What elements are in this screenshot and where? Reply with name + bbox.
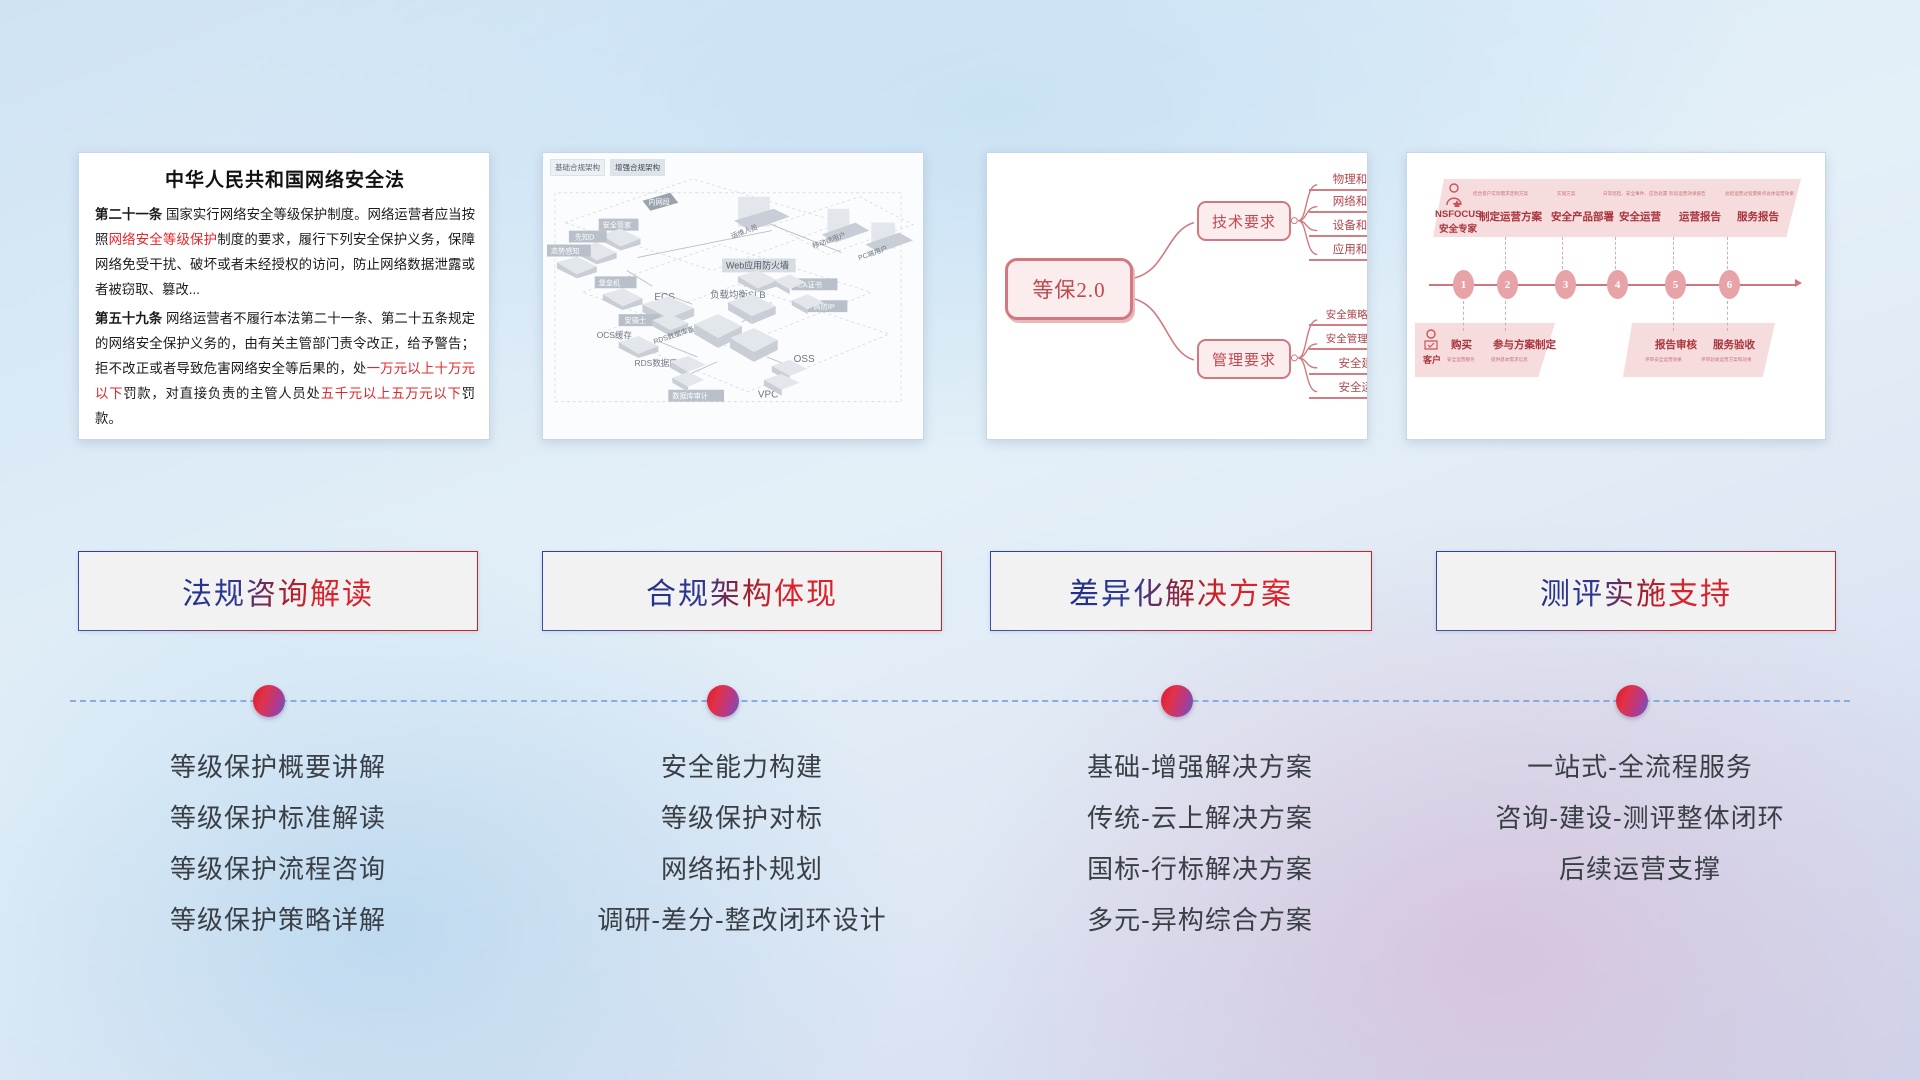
law-title: 中华人民共和国网络安全法 (95, 165, 475, 192)
bottom-step-1-main: 购买 (1451, 337, 1472, 352)
law-document: 中华人民共和国网络安全法 第二十一条 国家实行网络安全等级保护制度。网络运营者应… (79, 153, 489, 439)
article-59-text-mid: 罚款，对直接负责的主管人员处 (123, 386, 320, 401)
feature-item: 国标-行标解决方案 (1000, 844, 1400, 895)
step-4-sub: 日常巡检、安全事件、应急处置 (1603, 191, 1667, 197)
svg-text:Web应用防火墙: Web应用防火墙 (726, 259, 789, 270)
step-2-sub: 结合客户实际需求定制方案 (1473, 191, 1528, 197)
mindmap-leaf-device: 设备和计算安全 (1309, 217, 1368, 237)
svg-text:堡垒机: 堡垒机 (599, 278, 620, 287)
step-marker-4[interactable]: 4 (1607, 270, 1628, 299)
section-button-solution-label: 差异化解决方案 (1069, 569, 1293, 613)
feature-item: 网络拓扑规划 (532, 844, 952, 895)
svg-text:安全管家: 安全管家 (603, 221, 632, 230)
node-label-internal-zone: 内网段 (648, 198, 669, 207)
bottom-step-4-main: 服务验收 (1713, 337, 1755, 352)
mindmap-branch-management[interactable]: 管理要求 (1197, 339, 1291, 379)
mindmap-leaf-org: 安全管理机构和人员 (1309, 331, 1368, 350)
feature-item: 调研-差分-整改闭环设计 (532, 895, 952, 946)
svg-text:先知D: 先知D (575, 233, 594, 242)
bottom-step-2-sub: 提供基本需求信息 (1491, 357, 1528, 363)
step-marker-1[interactable]: 1 (1453, 270, 1474, 299)
nsfocus-timeline: NSFOCUS 安全专家 客户 结合客户实际需求定制方案 制定运营方案 实施方案… (1407, 153, 1825, 439)
article-21-number: 第二十一条 (95, 207, 162, 222)
section-button-architecture[interactable]: 合规架构体现 (542, 551, 942, 631)
mindmap-leaf-policy: 安全策略和管理制度 (1309, 307, 1368, 326)
bottom-step-4-sub: 评审验收运营方案和效果 (1701, 357, 1752, 363)
step-marker-5[interactable]: 5 (1665, 270, 1686, 299)
bottom-step-2-main: 参与方案制定 (1493, 337, 1556, 352)
timeline-dot-4[interactable] (1616, 685, 1648, 717)
bottom-step-1-sub: 安全运营服务 (1447, 357, 1475, 363)
section-button-assessment[interactable]: 测评实施支持 (1436, 551, 1836, 631)
feature-item: 基础-增强解决方案 (1000, 742, 1400, 793)
connector-3 (1562, 237, 1563, 269)
node-bastion-host: 堡垒机 (595, 276, 643, 310)
process-axis-arrow (1795, 279, 1802, 287)
expert-name: NSFOCUS (1435, 209, 1481, 220)
feature-item: 后续运营支撑 (1430, 844, 1850, 895)
customer-label: 客户 (1423, 353, 1441, 366)
mindmap-leaf-construction: 安全建设管理 (1309, 355, 1368, 375)
svg-text:态势感知: 态势感知 (551, 246, 580, 255)
svg-text:安骑士: 安骑士 (625, 316, 646, 325)
card-nsfocus-process[interactable]: NSFOCUS 安全专家 客户 结合客户实际需求定制方案 制定运营方案 实施方案… (1406, 152, 1826, 440)
node-anti-ddos-ip: 高防IP (792, 294, 848, 314)
section-button-regulation-label: 法规咨询解读 (182, 569, 374, 613)
feature-column-regulation: 等级保护概要讲解 等级保护标准解读 等级保护流程咨询 等级保护策略详解 (78, 742, 478, 946)
mindmap-leaf-network: 网络和通信安全 (1309, 193, 1368, 213)
step-2-main: 制定运营方案 (1479, 209, 1542, 224)
customer-person-icon (1421, 329, 1441, 351)
step-6-sub: 总结运营过程需要点总体运营效果 (1725, 191, 1794, 197)
slide-canvas: 中华人民共和国网络安全法 第二十一条 国家实行网络安全等级保护制度。网络运营者应… (0, 0, 1920, 1080)
step-marker-6[interactable]: 6 (1719, 270, 1740, 299)
node-ops-staff: 运维人员 (730, 197, 790, 241)
node-vpc: VPC (758, 374, 800, 401)
feature-item: 等级保护对标 (532, 793, 952, 844)
mindmap-branch-technical[interactable]: 技术要求 (1197, 201, 1291, 241)
law-article-59: 第五十九条 网络运营者不履行本法第二十一条、第二十五条规定的网络安全保护义务的，… (95, 306, 475, 431)
law-article-21: 第二十一条 国家实行网络安全等级保护制度。网络运营者应当按照网络安全等级保护制度… (95, 202, 475, 302)
card-cybersecurity-law[interactable]: 中华人民共和国网络安全法 第二十一条 国家实行网络安全等级保护制度。网络运营者应… (78, 152, 490, 440)
mindmap-leaf-physical: 物理和环境安全 (1309, 171, 1368, 191)
feature-item: 多元-异构综合方案 (1000, 895, 1400, 946)
feature-item: 等级保护流程咨询 (78, 844, 478, 895)
timeline-dot-1[interactable] (253, 685, 285, 717)
connector-2-down (1505, 301, 1506, 331)
connector-5-down (1673, 301, 1674, 331)
connector-6 (1727, 237, 1728, 269)
connector-4 (1615, 237, 1616, 269)
bottom-step-3-main: 报告审核 (1655, 337, 1697, 352)
feature-item: 等级保护策略详解 (78, 895, 478, 946)
feature-item: 安全能力构建 (532, 742, 952, 793)
step-6-main: 服务报告 (1737, 209, 1779, 224)
mindmap: 等保2.0 技术要求 管理要求 物理和环境安全 网络和通信安全 设备和计算安全 … (987, 153, 1367, 439)
mindmap-leaf-application: 应用和数据安全 (1309, 241, 1368, 261)
step-4-main: 安全运营 (1619, 209, 1661, 224)
card-compliance-architecture[interactable]: 基础合规架构 增强合规架构 (542, 152, 924, 440)
feature-column-assessment: 一站式-全流程服务 咨询-建设-测评整体闭环 后续运营支撑 (1430, 742, 1850, 895)
feature-column-solution: 基础-增强解决方案 传统-云上解决方案 国标-行标解决方案 多元-异构综合方案 (1000, 742, 1400, 946)
timeline-dot-3[interactable] (1161, 685, 1193, 717)
feature-item: 咨询-建设-测评整体闭环 (1430, 793, 1850, 844)
node-ocs-cache: OCS缓存 (597, 330, 659, 358)
section-button-solution[interactable]: 差异化解决方案 (990, 551, 1372, 631)
feature-item: 一站式-全流程服务 (1430, 742, 1850, 793)
mindmap-leaf-operation: 安全运维管理 (1309, 379, 1368, 399)
node-rds-database: RDS数据库 (635, 356, 707, 378)
architecture-diagram: 基础合规架构 增强合规架构 (543, 153, 923, 439)
step-marker-2[interactable]: 2 (1497, 270, 1518, 299)
node-ca-certificate: CA证书 (774, 274, 838, 294)
node-mobile-user: 移动端用户 (811, 209, 869, 251)
feature-item: 等级保护概要讲解 (78, 742, 478, 793)
article-21-highlight: 网络安全等级保护 (109, 232, 218, 247)
step-5-main: 运营报告 (1679, 209, 1721, 224)
article-59-fine-person: 五千元以上五万元以下 (321, 386, 462, 401)
connector-6-down (1727, 301, 1728, 331)
svg-text:数据库审计: 数据库审计 (672, 392, 708, 401)
feature-column-architecture: 安全能力构建 等级保护对标 网络拓扑规划 调研-差分-整改闭环设计 (532, 742, 952, 946)
node-situation-awareness: 态势感知 (547, 245, 597, 279)
mindmap-root[interactable]: 等保2.0 (1005, 258, 1133, 320)
image-cards-row: 中华人民共和国网络安全法 第二十一条 国家实行网络安全等级保护制度。网络运营者应… (0, 152, 1920, 446)
step-marker-3[interactable]: 3 (1555, 270, 1576, 299)
section-button-architecture-label: 合规架构体现 (646, 569, 838, 613)
step-3-sub: 实施方案 (1557, 191, 1575, 197)
connector-1-down (1463, 301, 1464, 331)
expert-person-icon (1443, 183, 1465, 207)
svg-text:OCS缓存: OCS缓存 (597, 330, 633, 340)
svg-text:OSS: OSS (794, 354, 815, 365)
bottom-step-3-sub: 评审安全运营效果 (1645, 357, 1682, 363)
article-59-number: 第五十九条 (95, 311, 162, 326)
section-button-regulation[interactable]: 法规咨询解读 (78, 551, 478, 631)
connector-2 (1505, 237, 1506, 269)
node-database-audit: 数据库审计 (668, 372, 724, 402)
expert-role: 安全专家 (1439, 221, 1477, 235)
card-mindmap-dengbao[interactable]: 等保2.0 技术要求 管理要求 物理和环境安全 网络和通信安全 设备和计算安全 … (986, 152, 1368, 440)
expert-band (1433, 179, 1801, 237)
feature-item: 等级保护标准解读 (78, 793, 478, 844)
connector-5 (1673, 237, 1674, 269)
feature-item: 传统-云上解决方案 (1000, 793, 1400, 844)
architecture-svg: 内网段 安全管家 先知D (543, 153, 923, 439)
step-5-sub: 阶段运营效果报告 (1669, 191, 1706, 197)
timeline-dot-2[interactable] (707, 685, 739, 717)
timeline-dashed-line (70, 700, 1850, 702)
step-3-main: 安全产品部署 (1551, 209, 1614, 224)
section-button-assessment-label: 测评实施支持 (1540, 569, 1732, 613)
